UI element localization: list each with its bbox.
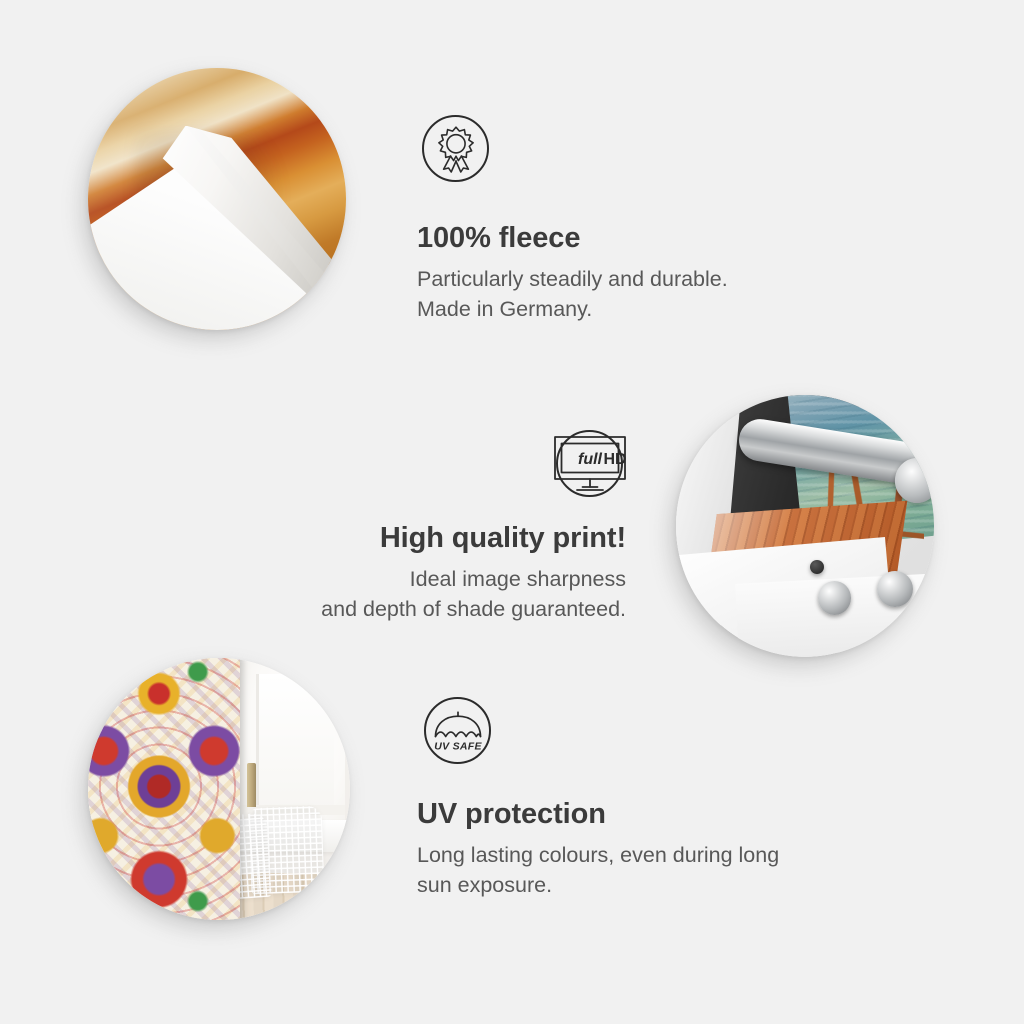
uv-safe-umbrella-icon: UV SAFE bbox=[424, 697, 491, 764]
fullhd-label-full: full bbox=[578, 451, 603, 468]
candle-holder bbox=[247, 763, 256, 808]
feature-text-fleece: 100% fleece Particularly steadily and du… bbox=[417, 222, 837, 325]
photo-inner bbox=[676, 395, 934, 657]
feature-title: 100% fleece bbox=[417, 222, 837, 255]
photo-inner bbox=[88, 658, 350, 920]
fullhd-label-hd: HD bbox=[603, 451, 626, 468]
large-format-printer-photo bbox=[676, 395, 934, 657]
fullhd-monitor-icon: full HD bbox=[556, 430, 623, 497]
feature-text-print: High quality print! Ideal image sharpnes… bbox=[200, 522, 626, 625]
uv-safe-label: UV SAFE bbox=[434, 740, 482, 752]
feature-text-uv: UV protection Long lasting colours, even… bbox=[417, 798, 857, 901]
mandala-wallpaper-panel bbox=[88, 658, 240, 920]
mandala-wallpaper-room-photo bbox=[88, 658, 350, 920]
feature-description: Ideal image sharpness and depth of shade… bbox=[200, 565, 626, 624]
peeled-fleece-wallpaper-corner-photo bbox=[88, 68, 346, 330]
feature-title: UV protection bbox=[417, 798, 857, 831]
feature-title: High quality print! bbox=[200, 522, 626, 555]
window-frame bbox=[256, 674, 335, 810]
feature-description: Long lasting colours, even during long s… bbox=[417, 841, 857, 900]
award-rosette-icon bbox=[422, 115, 489, 182]
feature-description: Particularly steadily and durable. Made … bbox=[417, 265, 837, 324]
photo-inner bbox=[88, 68, 346, 330]
infographic-canvas: 100% fleece Particularly steadily and du… bbox=[0, 0, 1024, 1024]
